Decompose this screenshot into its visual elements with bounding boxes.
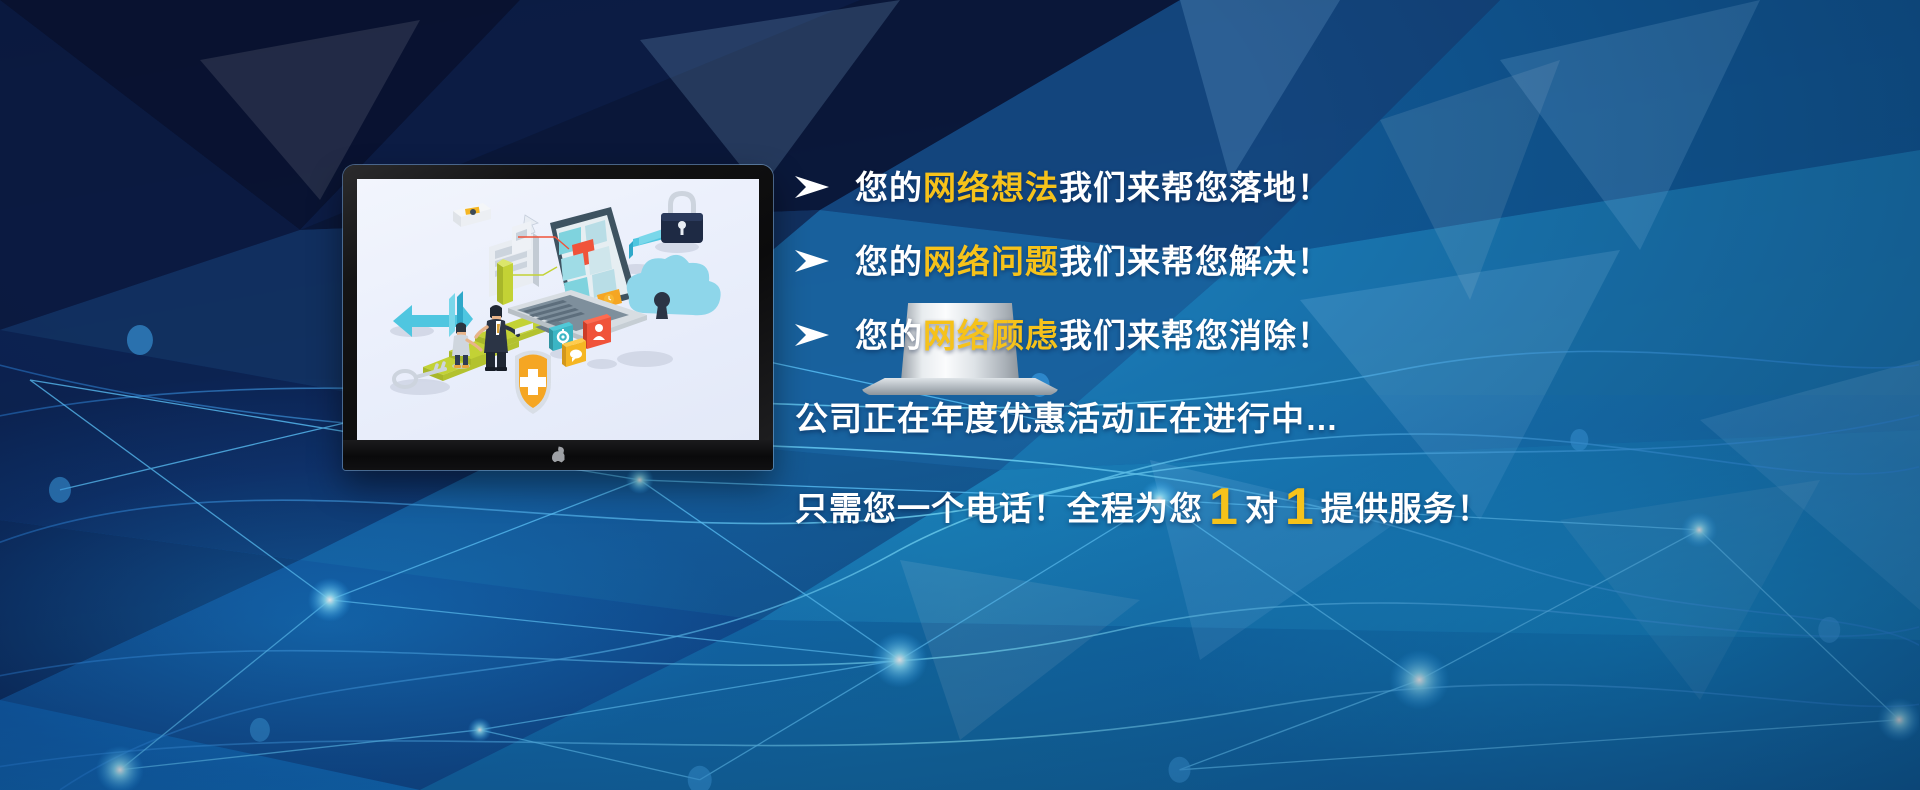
bullet-1-prefix: 您的 [855,169,923,206]
bullet-1-highlight: 网络想法 [923,169,1059,206]
bullet-3-prefix: 您的 [855,317,923,354]
keycard-icon [453,203,491,227]
bullet-item-2: 您的网络问题我们来帮您解决！ [795,224,1695,298]
bullet-3-suffix: 我们来帮您消除！ [1059,317,1331,354]
promo-number-2: 1 [1279,478,1321,536]
promo-number-1: 1 [1203,478,1245,536]
apple-display-monitor [343,165,773,470]
bullet-1-suffix: 我们来帮您落地！ [1059,169,1331,206]
bullet-text-2: 您的网络问题我们来帮您解决！ [855,245,1331,278]
promo-line-2-part1: 只需您一个电话！全程为您 [795,490,1203,527]
apple-logo-icon [552,448,565,463]
arrow-bullet-icon [795,322,829,348]
promo-banner: 您的网络想法我们来帮您落地！ 您的网络问题我们来帮您解决！ 您的网络顾虑我们来帮… [0,0,1920,790]
shield-plus-icon [515,351,551,415]
bullet-text-1: 您的网络想法我们来帮您落地！ [855,171,1331,204]
bullet-2-prefix: 您的 [855,243,923,280]
padlock-icon [661,191,703,243]
bullet-item-1: 您的网络想法我们来帮您落地！ [795,150,1695,224]
bullet-2-suffix: 我们来帮您解决！ [1059,243,1331,280]
bullet-item-3: 您的网络顾虑我们来帮您消除！ [795,298,1695,372]
bullet-2-highlight: 网络问题 [923,243,1059,280]
monitor-screen [357,179,759,440]
arrow-bullet-icon [795,174,829,200]
promo-line-1: 公司正在年度优惠活动正在进行中… [795,402,1695,435]
isometric-illustration [357,179,759,429]
headline-copy-block: 您的网络想法我们来帮您落地！ 您的网络问题我们来帮您解决！ 您的网络顾虑我们来帮… [795,150,1695,533]
bullet-text-3: 您的网络顾虑我们来帮您消除！ [855,319,1331,352]
promo-line-2-part2: 对 [1245,490,1279,527]
arrow-bullet-icon [795,248,829,274]
bullet-3-highlight: 网络顾虑 [923,317,1059,354]
promo-line-2: 只需您一个电话！全程为您1对1提供服务！ [795,481,1695,533]
monitor-chin [343,440,773,470]
promo-line-2-part3: 提供服务！ [1321,490,1491,527]
